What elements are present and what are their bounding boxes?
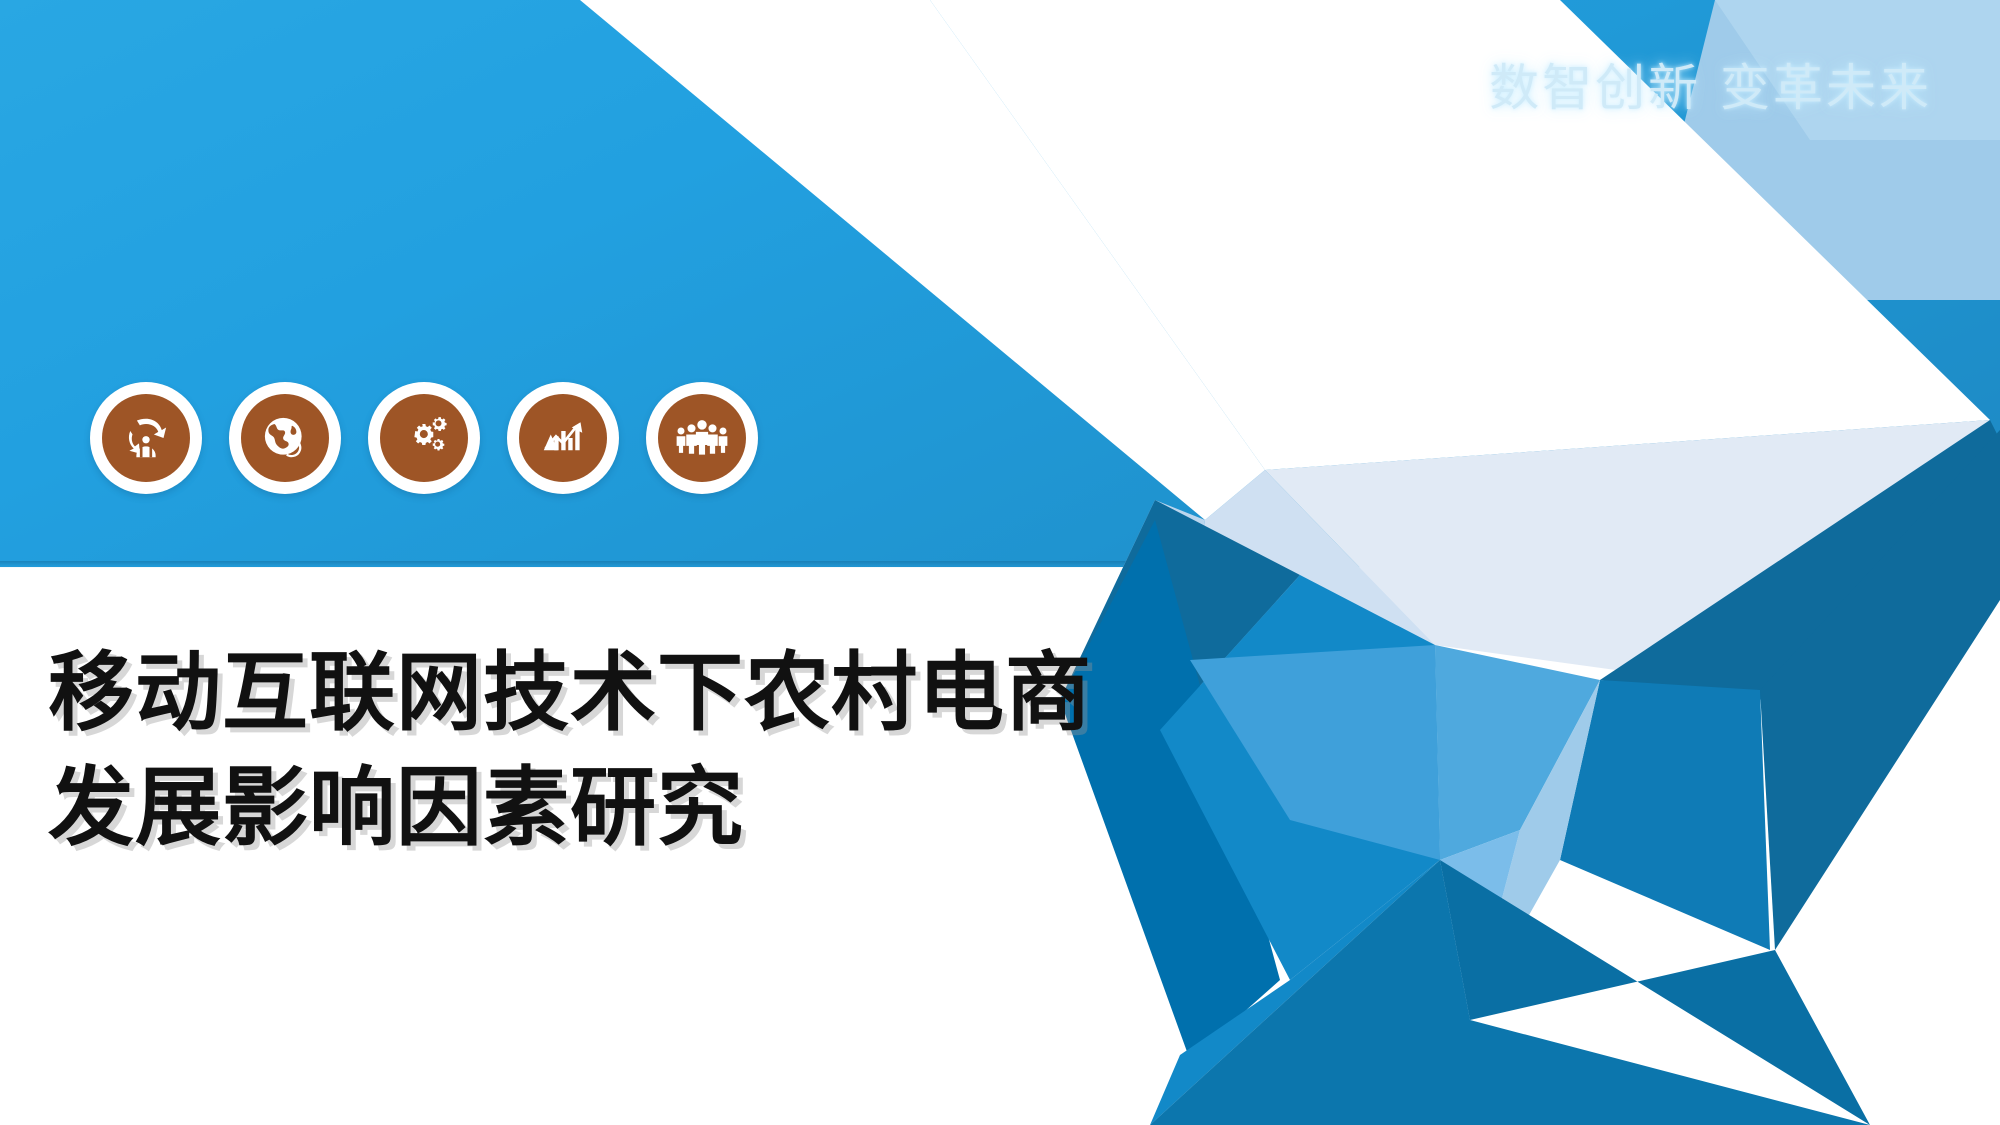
people-group-icon [674, 410, 730, 466]
poly-blue-center [1160, 575, 1440, 980]
poly-blue-lower-left [1150, 860, 1440, 1125]
globe-icon [257, 410, 313, 466]
icon-badge-people-group[interactable] [646, 382, 758, 494]
recycle-growth-icon [118, 410, 174, 466]
header-band-edge [0, 561, 2000, 568]
poly-bottom-slab-right [1440, 860, 1870, 1125]
gears-icon [396, 410, 452, 466]
icon-disc [241, 394, 329, 482]
poly-light-right-tail [1470, 680, 1600, 1020]
icon-badge-gears[interactable] [368, 382, 480, 494]
icon-row [90, 382, 758, 494]
poly-mid-sky-left [1190, 645, 1440, 860]
icon-badge-bar-chart-growth[interactable] [507, 382, 619, 494]
icon-disc [519, 394, 607, 482]
icon-disc [380, 394, 468, 482]
poly-sky-mid [1135, 560, 1295, 860]
bar-chart-growth-icon [535, 410, 591, 466]
poly-deep-right [1560, 680, 1770, 950]
poly-deep-left-column [1060, 520, 1280, 1060]
slide-tagline: 数智创新 变革未来 [1489, 48, 1932, 120]
title-line-1: 移动互联网技术下农村电商 [48, 636, 1092, 751]
icon-disc [658, 394, 746, 482]
title-line-2: 发展影响因素研究 [48, 751, 1092, 866]
presentation-slide: 数智创新 变革未来 [0, 0, 2000, 1125]
poly-mid-sky-center [1435, 645, 1600, 860]
poly-sky-tail [1440, 830, 1520, 1020]
icon-disc [102, 394, 190, 482]
slide-title: 移动互联网技术下农村电商 发展影响因素研究 [48, 636, 1092, 866]
icon-badge-globe[interactable] [229, 382, 341, 494]
poly-bottom-slab [1150, 860, 1870, 1125]
icon-badge-recycle-growth[interactable] [90, 382, 202, 494]
